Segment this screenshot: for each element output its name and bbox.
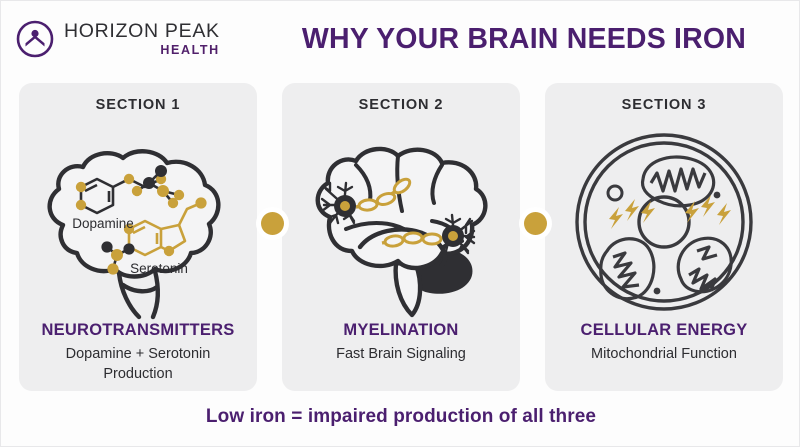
person-peak-circle-icon: [15, 19, 55, 59]
section-title: CELLULAR ENERGY: [545, 321, 783, 340]
gold-dot-connector-icon: [519, 207, 552, 240]
gold-dot-connector-icon: [256, 207, 289, 240]
section-card-1: SECTION 1: [19, 83, 257, 391]
infographic-canvas: HORIZON PEAK HEALTH WHY YOUR BRAIN NEEDS…: [0, 0, 800, 447]
footer-takeaway: Low iron = impaired production of all th…: [1, 406, 800, 428]
section-eyebrow: SECTION 2: [282, 97, 520, 113]
gold-dot: [524, 212, 547, 235]
brand-subname: HEALTH: [160, 44, 219, 57]
gold-dot: [261, 212, 284, 235]
section-subtitle: Dopamine + Serotonin Production: [29, 345, 247, 384]
brand-wordmark: HORIZON PEAK HEALTH: [64, 22, 220, 57]
dopamine-label: Dopamine: [72, 216, 134, 231]
section-title: NEUROTRANSMITTERS: [19, 321, 257, 340]
section-eyebrow: SECTION 1: [19, 97, 257, 113]
header: HORIZON PEAK HEALTH WHY YOUR BRAIN NEEDS…: [1, 1, 800, 77]
page-title: WHY YOUR BRAIN NEEDS IRON: [259, 23, 789, 56]
brand-name: HORIZON PEAK: [64, 22, 220, 42]
brain-myelin-neurons-icon: [282, 125, 520, 320]
section-eyebrow: SECTION 3: [545, 97, 783, 113]
section-subtitle: Fast Brain Signaling: [292, 345, 510, 365]
section-title: MYELINATION: [282, 321, 520, 340]
brand-logo: HORIZON PEAK HEALTH: [15, 19, 220, 59]
brain-molecules-icon: Dopamine Serotonin: [19, 125, 257, 320]
cell-mitochondria-energy-icon: [545, 125, 783, 320]
section-card-2: SECTION 2: [282, 83, 520, 391]
serotonin-label: Serotonin: [130, 261, 188, 276]
section-card-3: SECTION 3: [545, 83, 783, 391]
section-subtitle: Mitochondrial Function: [555, 345, 773, 365]
